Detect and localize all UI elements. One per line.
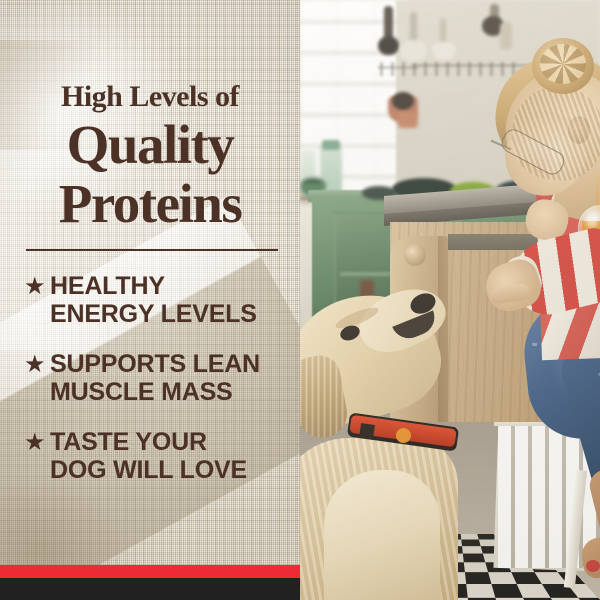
benefit-line-2: MUSCLE MASS [50,378,260,406]
benefit-text: HEALTHY ENERGY LEVELS [50,272,257,328]
dog-chest [324,470,440,600]
list-item: ★ SUPPORTS LEAN MUSCLE MASS [24,350,296,406]
benefits-list: ★ HEALTHY ENERGY LEVELS ★ SUPPORTS LEAN … [24,272,296,506]
star-icon: ★ [24,272,50,300]
headline-divider [26,249,278,251]
hanging-utensil-handle [384,6,393,40]
benefit-text: SUPPORTS LEAN MUSCLE MASS [50,350,260,406]
collar-buckle [359,423,375,440]
lifestyle-photo [300,0,600,600]
benefit-line-2: DOG WILL LOVE [50,456,247,484]
benefit-line-1: TASTE YOUR [50,428,207,456]
hanging-scoop-icon [400,40,427,62]
list-item: ★ HEALTHY ENERGY LEVELS [24,272,296,328]
benefit-line-2: ENERGY LEVELS [50,300,257,328]
hanging-spatula-icon [432,42,456,60]
panel-content: High Levels of Quality Proteins ★ HEALTH… [0,0,300,600]
burlap-text-panel: High Levels of Quality Proteins ★ HEALTH… [0,0,300,600]
green-jar-lid [322,140,340,150]
product-feature-poster: High Levels of Quality Proteins ★ HEALTH… [0,0,600,600]
hanging-ladle-icon [378,36,399,55]
table-leg-shadow [438,236,452,422]
headline-line-3: Proteins [0,176,300,231]
table-knob [404,244,426,266]
accent-bar-dark [0,578,300,600]
glass-highlight [586,212,598,228]
list-item: ★ TASTE YOUR DOG WILL LOVE [24,428,296,484]
headline-line-2: Quality [0,117,300,172]
painted-toenail [586,560,600,572]
accent-bar-red [0,565,300,578]
benefit-line-1: SUPPORTS LEAN [50,350,260,378]
hanging-utensil-handle [500,22,512,50]
star-icon: ★ [24,350,50,378]
headline-line-1: High Levels of [0,82,300,112]
hair-bun-swirl [540,44,586,84]
copper-pan-body [398,112,418,128]
benefit-line-1: HEALTHY [50,272,165,300]
hanging-hooks [380,62,520,76]
copper-pan-shadow [392,92,414,110]
benefit-text: TASTE YOUR DOG WILL LOVE [50,428,247,484]
star-icon: ★ [24,428,50,456]
